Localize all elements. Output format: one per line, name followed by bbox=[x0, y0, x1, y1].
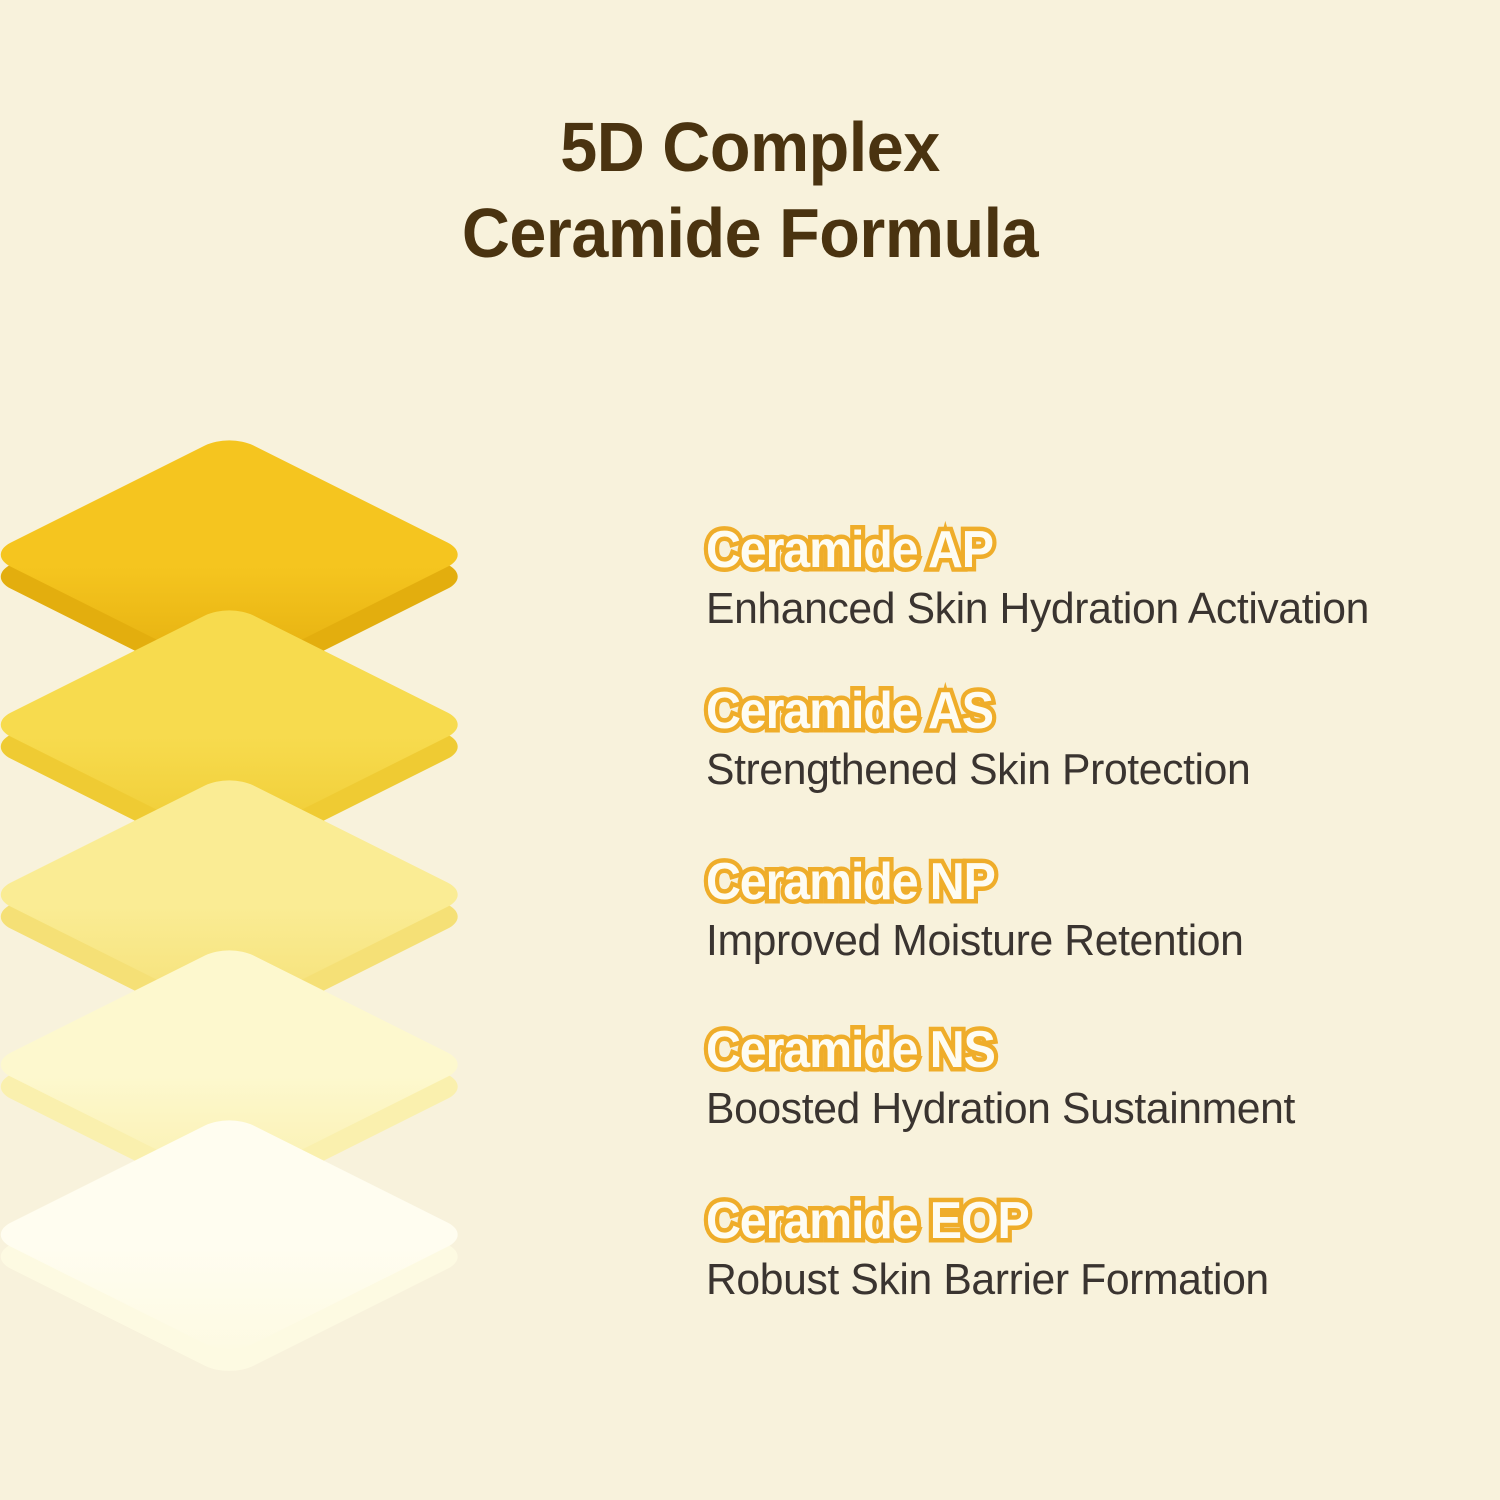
ceramide-description: Robust Skin Barrier Formation bbox=[706, 1254, 1472, 1306]
ceramide-item-4: Ceramide NSBoosted Hydration Sustainment bbox=[706, 1021, 1496, 1135]
ceramide-name-label: Ceramide EOP bbox=[706, 1192, 1441, 1250]
ceramide-description: Strengthened Skin Protection bbox=[706, 744, 1472, 796]
ceramide-name-label: Ceramide AS bbox=[706, 682, 1441, 740]
ceramide-name-label: Ceramide AP bbox=[706, 521, 1441, 579]
ceramide-item-1: Ceramide APEnhanced Skin Hydration Activ… bbox=[706, 521, 1496, 635]
ceramide-name-label: Ceramide NP bbox=[706, 853, 1441, 911]
ceramide-description: Improved Moisture Retention bbox=[706, 915, 1472, 967]
ceramide-description: Enhanced Skin Hydration Activation bbox=[706, 583, 1472, 635]
ceramide-item-5: Ceramide EOPRobust Skin Barrier Formatio… bbox=[706, 1192, 1496, 1306]
ceramide-info-list: Ceramide APEnhanced Skin Hydration Activ… bbox=[706, 0, 1496, 1500]
ceramide-name-label: Ceramide NS bbox=[706, 1021, 1441, 1079]
ceramide-item-3: Ceramide NPImproved Moisture Retention bbox=[706, 853, 1496, 967]
ceramide-layer-5 bbox=[0, 1174, 700, 1404]
ceramide-description: Boosted Hydration Sustainment bbox=[706, 1083, 1472, 1135]
ceramide-layer-stack bbox=[0, 0, 700, 1500]
ceramide-item-2: Ceramide ASStrengthened Skin Protection bbox=[706, 682, 1496, 796]
